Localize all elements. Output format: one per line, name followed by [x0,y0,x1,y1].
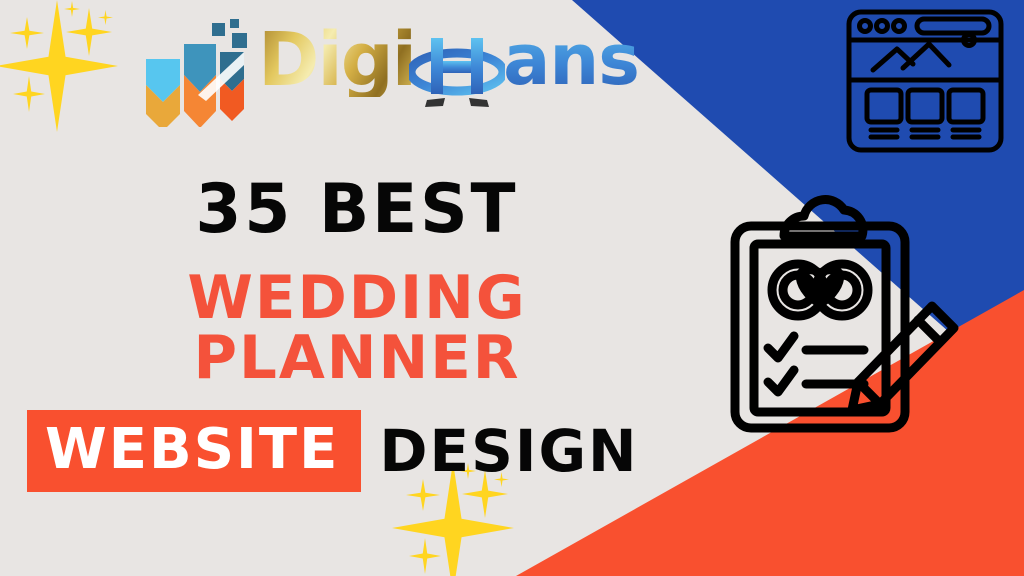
headline-word-design: DESIGN [379,422,638,480]
brand-name-hans: ans [503,25,639,95]
wedding-checklist-clipboard-icon [722,186,974,458]
headline-block: 35 BEST WEDDING PLANNER WEBSITE DESIGN [27,176,687,492]
sparkle-icon [10,17,44,49]
brand-wordmark: Digi [258,19,639,127]
sparkle-icon [64,1,80,17]
headline-highlight-website: WEBSITE [27,410,361,492]
headline-line-2: WEDDING PLANNER [30,268,683,388]
headline-line-1: 35 BEST [37,176,677,244]
digihans-bar-chart-logo-icon [140,19,248,127]
sparkle-icon [0,0,118,132]
brand-logo[interactable]: Digi [140,18,639,128]
headline-line-3: WEBSITE DESIGN [27,410,687,492]
sparkle-icon [98,10,113,25]
sparkle-icon [409,538,441,574]
thumbnail-canvas: Digi [0,0,1024,576]
sparkle-icon [13,76,45,112]
brand-name-digi: Digi [258,23,415,97]
sparkle-cluster-top-left [0,0,136,134]
brand-name-hans-group: ans [417,22,639,92]
browser-window-icon [845,8,1005,154]
hans-swoosh-icon [409,28,505,108]
